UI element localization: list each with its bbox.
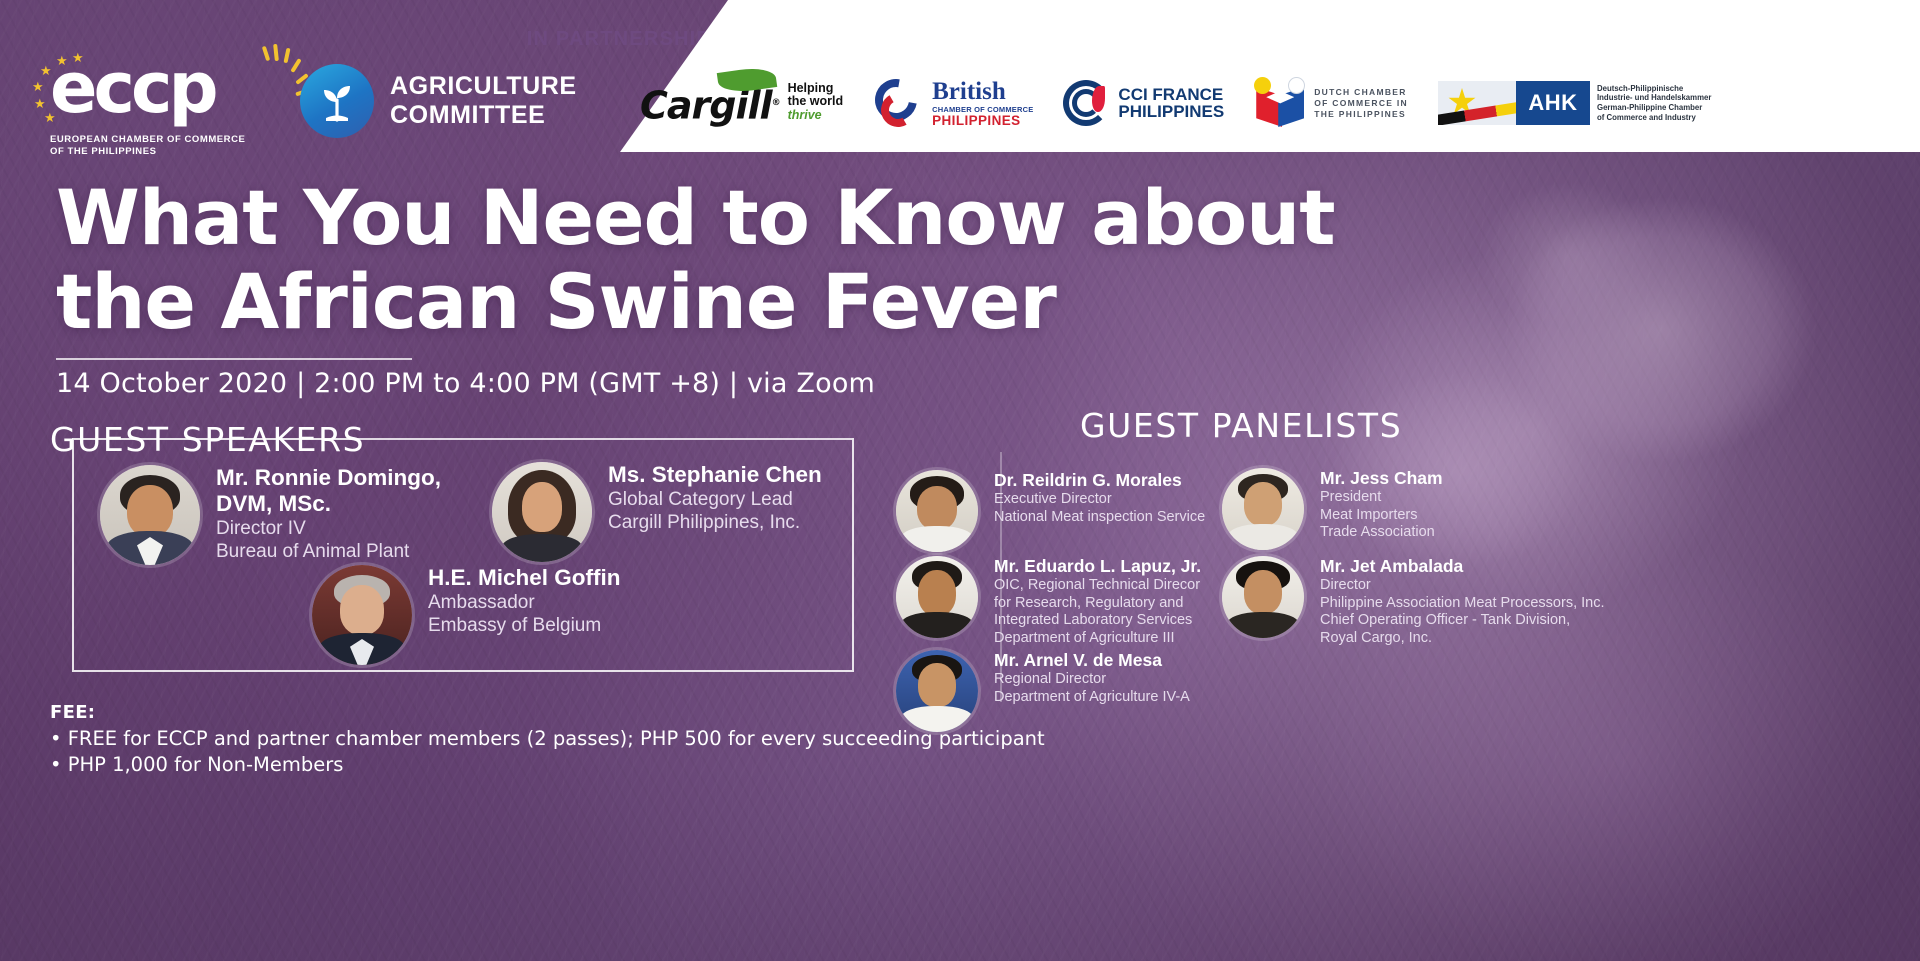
panelist-card-lapuz: Mr. Eduardo L. Lapuz, Jr. OIC, Regional … (896, 556, 1201, 647)
avatar (1222, 468, 1304, 550)
speaker-name-line2: DVM, MSc. (216, 491, 441, 517)
panelist-role-2: National Meat inspection Service (994, 509, 1205, 527)
cargill-tagline-2: the world (788, 95, 844, 109)
panelist-role-3: Trade Association (1320, 524, 1443, 542)
cargill-tagline: Helping the world thrive (788, 82, 844, 125)
title-line-1: What You Need to Know about (56, 176, 1335, 260)
speaker-role-1: Director IV (216, 517, 441, 540)
cargill-wordmark: Cargill® (640, 84, 780, 125)
seedling-icon (300, 64, 374, 138)
avatar (1222, 556, 1304, 638)
ahk-line1: Deutsch-Philippinische (1597, 84, 1711, 94)
panelist-role-2: Meat Importers (1320, 507, 1443, 525)
panelist-card-cham: Mr. Jess Cham President Meat Importers T… (1222, 468, 1443, 550)
speaker-card-goffin: H.E. Michel Goffin Ambassador Embassy of… (312, 565, 621, 665)
committee-title: AGRICULTURE COMMITTEE (390, 72, 577, 130)
dutch-line2: OF COMMERCE IN (1314, 98, 1408, 109)
guest-speakers-heading: GUEST SPEAKERS (50, 420, 365, 459)
speaker-info: H.E. Michel Goffin Ambassador Embassy of… (412, 565, 621, 637)
panelist-info: Mr. Jet Ambalada Director Philippine Ass… (1304, 556, 1605, 647)
panelist-role-1: Director (1320, 577, 1605, 595)
speaker-info: Mr. Ronnie Domingo, DVM, MSc. Director I… (200, 465, 441, 563)
fee-line-1: • FREE for ECCP and partner chamber memb… (50, 726, 1045, 752)
panelist-role-4: Royal Cargo, Inc. (1320, 630, 1605, 648)
partner-logo-cargill: Cargill® Helping the world thrive (640, 82, 843, 125)
panelist-info: Dr. Reildrin G. Morales Executive Direct… (978, 470, 1205, 526)
dutch-chamber-mark-icon (1254, 77, 1306, 129)
panelist-name: Mr. Arnel V. de Mesa (994, 650, 1190, 671)
british-line1: British (932, 79, 1033, 104)
partner-logo-british-chamber: British CHAMBER OF COMMERCE PHILIPPINES (873, 77, 1033, 129)
ahk-text: Deutsch-Philippinische Industrie- und Ha… (1597, 84, 1711, 122)
panelist-name: Mr. Jet Ambalada (1320, 556, 1605, 577)
speaker-name: H.E. Michel Goffin (428, 565, 621, 591)
panelist-role-1: President (1320, 489, 1443, 507)
eccp-wordmark: eccp (50, 52, 290, 124)
panelist-role-1: OIC, Regional Technical Direcor (994, 577, 1201, 595)
avatar (492, 462, 592, 562)
partner-logos: Cargill® Helping the world thrive Britis… (640, 64, 1890, 142)
british-line3: PHILIPPINES (932, 114, 1033, 128)
panelist-card-ambalada: Mr. Jet Ambalada Director Philippine Ass… (1222, 556, 1605, 647)
dutch-line3: THE PHILIPPINES (1314, 109, 1408, 120)
avatar (312, 565, 412, 665)
speaker-role-1: Ambassador (428, 591, 621, 614)
speaker-card-chen: Ms. Stephanie Chen Global Category Lead … (492, 462, 822, 562)
cci-line2: PHILIPPINES (1118, 103, 1224, 120)
panelist-name: Mr. Jess Cham (1320, 468, 1443, 489)
speaker-role-2: Cargill Philippines, Inc. (608, 511, 822, 534)
title-divider (56, 358, 412, 360)
committee-title-line1: AGRICULTURE (390, 72, 577, 101)
avatar (896, 556, 978, 638)
panelist-info: Mr. Eduardo L. Lapuz, Jr. OIC, Regional … (978, 556, 1201, 647)
partner-logo-ahk: AHK Deutsch-Philippinische Industrie- un… (1438, 81, 1711, 125)
partner-logo-dutch-chamber: DUTCH CHAMBER OF COMMERCE IN THE PHILIPP… (1254, 77, 1408, 129)
ahk-flag-icon (1438, 81, 1516, 125)
panelist-role-3: Integrated Laboratory Services (994, 612, 1201, 630)
fee-label: FEE: (50, 700, 1045, 726)
committee-badge (300, 64, 374, 138)
eu-stars-icon: ★ ★ ★ ★ ★ ★ (36, 54, 76, 128)
fee-block: FEE: • FREE for ECCP and partner chamber… (50, 700, 1045, 778)
cargill-tagline-1: Helping (788, 82, 844, 96)
eccp-logo-block: ★ ★ ★ ★ ★ ★ eccp EUROPEAN CHAMBER OF COM… (50, 52, 290, 158)
eccp-caption-line1: EUROPEAN CHAMBER OF COMMERCE (50, 134, 290, 146)
guest-speakers-heading-rule (352, 438, 852, 440)
page-title: What You Need to Know about the African … (56, 176, 1335, 344)
ahk-mark-icon: AHK (1438, 81, 1590, 125)
panelist-name: Mr. Eduardo L. Lapuz, Jr. (994, 556, 1201, 577)
eccp-caption: EUROPEAN CHAMBER OF COMMERCE OF THE PHIL… (50, 134, 290, 158)
speaker-card-domingo: Mr. Ronnie Domingo, DVM, MSc. Director I… (100, 465, 441, 565)
panelist-role-1: Regional Director (994, 671, 1190, 689)
panelist-role-1: Executive Director (994, 491, 1205, 509)
speaker-info: Ms. Stephanie Chen Global Category Lead … (592, 462, 822, 534)
dutch-line1: DUTCH CHAMBER (1314, 87, 1408, 98)
cci-france-mark-icon (1063, 80, 1109, 126)
agriculture-committee-block: AGRICULTURE COMMITTEE (300, 64, 577, 138)
panelist-name: Dr. Reildrin G. Morales (994, 470, 1205, 491)
speaker-role-2: Bureau of Animal Plant (216, 540, 441, 563)
cci-france-text: CCI FRANCE PHILIPPINES (1118, 86, 1224, 120)
title-line-2: the African Swine Fever (56, 260, 1335, 344)
cargill-tagline-3: thrive (788, 109, 844, 123)
cci-line1: CCI FRANCE (1118, 86, 1224, 103)
committee-title-line2: COMMITTEE (390, 101, 577, 130)
panelist-role-4: Department of Agriculture III (994, 630, 1201, 648)
speaker-name: Mr. Ronnie Domingo, (216, 465, 441, 491)
ahk-line2: Industrie- und Handelskammer (1597, 93, 1711, 103)
partner-logo-cci-france: CCI FRANCE PHILIPPINES (1063, 80, 1224, 126)
eccp-caption-line2: OF THE PHILIPPINES (50, 146, 290, 158)
avatar (100, 465, 200, 565)
panelist-info: Mr. Jess Cham President Meat Importers T… (1304, 468, 1443, 542)
eccp-logo: ★ ★ ★ ★ ★ ★ eccp (50, 52, 290, 130)
ahk-line4: of Commerce and Industry (1597, 113, 1711, 123)
panelist-role-2: for Research, Regulatory and (994, 595, 1201, 613)
event-datetime: 14 October 2020 | 2:00 PM to 4:00 PM (GM… (56, 368, 875, 399)
panelist-role-2: Philippine Association Meat Processors, … (1320, 595, 1605, 613)
british-chamber-text: British CHAMBER OF COMMERCE PHILIPPINES (932, 79, 1033, 127)
panelist-card-morales: Dr. Reildrin G. Morales Executive Direct… (896, 470, 1205, 552)
panelist-info: Mr. Arnel V. de Mesa Regional Director D… (978, 650, 1190, 706)
panelist-role-3: Chief Operating Officer - Tank Division, (1320, 612, 1605, 630)
fee-line-2: • PHP 1,000 for Non-Members (50, 752, 1045, 778)
ahk-wordmark: AHK (1516, 81, 1590, 125)
avatar (896, 470, 978, 552)
speaker-role-1: Global Category Lead (608, 488, 822, 511)
ahk-line3: German-Philippine Chamber (1597, 103, 1711, 113)
speaker-role-2: Embassy of Belgium (428, 614, 621, 637)
cargill-registered-mark: ® (772, 98, 780, 108)
dutch-chamber-text: DUTCH CHAMBER OF COMMERCE IN THE PHILIPP… (1314, 87, 1408, 120)
british-chamber-mark-icon (873, 77, 925, 129)
speaker-name: Ms. Stephanie Chen (608, 462, 822, 488)
guest-panelists-heading: GUEST PANELISTS (1080, 406, 1402, 445)
